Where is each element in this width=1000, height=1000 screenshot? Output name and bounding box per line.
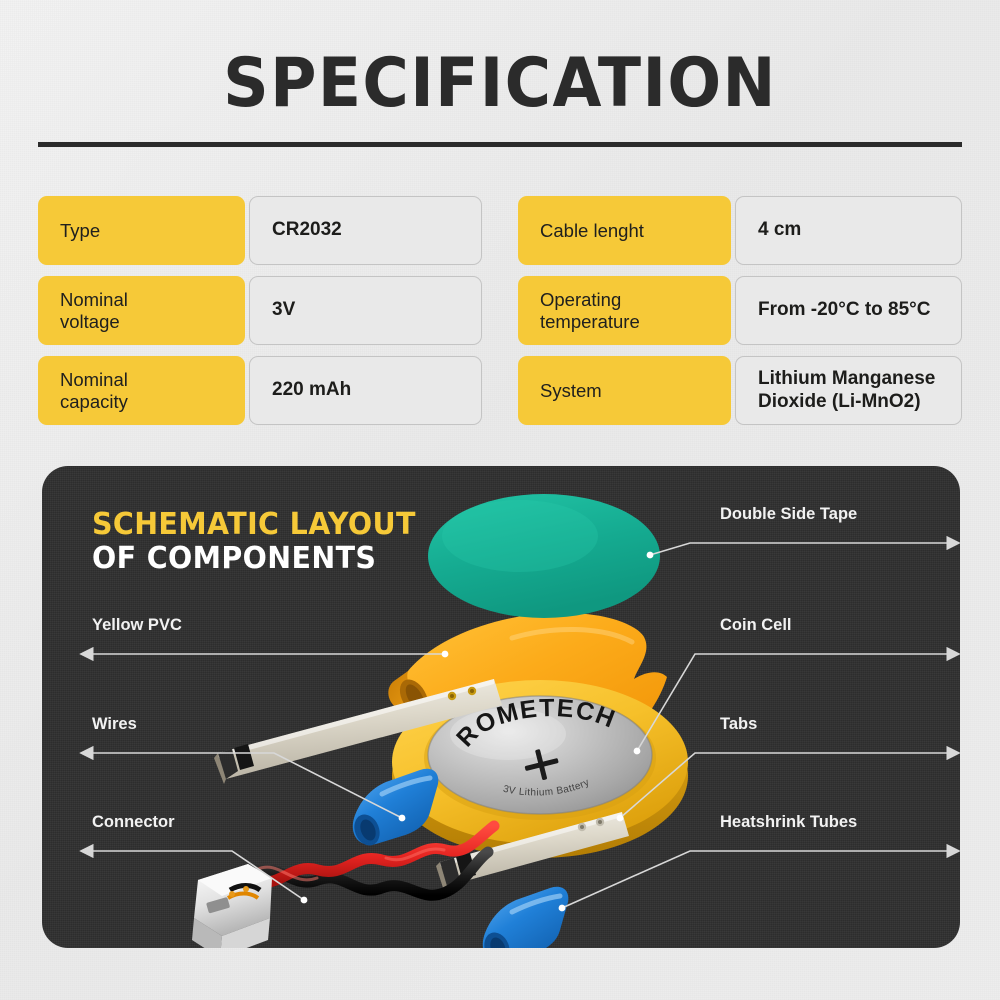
spec-value: 3V xyxy=(249,276,482,345)
spec-label: Nominal capacity xyxy=(38,356,245,425)
callout-leader-lines xyxy=(42,466,960,948)
spec-label: Type xyxy=(38,196,245,265)
callout-label-tabs: Tabs xyxy=(720,715,757,734)
title-divider xyxy=(38,142,962,147)
spec-label: Cable lenght xyxy=(518,196,731,265)
specification-infographic: SPECIFICATION Type CR2032 Cable lenght 4… xyxy=(0,0,1000,1000)
spec-value: 220 mAh xyxy=(249,356,482,425)
spec-value: 4 cm xyxy=(735,196,962,265)
spec-label: Operating temperature xyxy=(518,276,731,345)
callout-label-connector: Connector xyxy=(92,813,175,832)
spec-row: Type CR2032 xyxy=(38,196,482,265)
spec-label: System xyxy=(518,356,731,425)
callout-label-heatshrink-tubes: Heatshrink Tubes xyxy=(720,813,857,832)
spec-value: Lithium Manganese Dioxide (Li-MnO2) xyxy=(735,356,962,425)
spec-value: CR2032 xyxy=(249,196,482,265)
spec-row: Cable lenght 4 cm xyxy=(518,196,962,265)
specification-table: Type CR2032 Cable lenght 4 cm Nominal vo… xyxy=(38,196,962,425)
spec-row: Nominal capacity 220 mAh xyxy=(38,356,482,425)
callout-label-double-side-tape: Double Side Tape xyxy=(720,505,857,524)
schematic-layout-panel: SCHEMATIC LAYOUT OF COMPONENTS xyxy=(42,466,960,948)
callout-label-yellow-pvc: Yellow PVC xyxy=(92,616,182,635)
callout-label-coin-cell: Coin Cell xyxy=(720,616,792,635)
spec-row: Operating temperature From -20°C to 85°C xyxy=(518,276,962,345)
spec-value: From -20°C to 85°C xyxy=(735,276,962,345)
spec-label: Nominal voltage xyxy=(38,276,245,345)
spec-row: Nominal voltage 3V xyxy=(38,276,482,345)
page-title: SPECIFICATION xyxy=(35,50,965,118)
spec-row: System Lithium Manganese Dioxide (Li-MnO… xyxy=(518,356,962,425)
callout-label-wires: Wires xyxy=(92,715,137,734)
